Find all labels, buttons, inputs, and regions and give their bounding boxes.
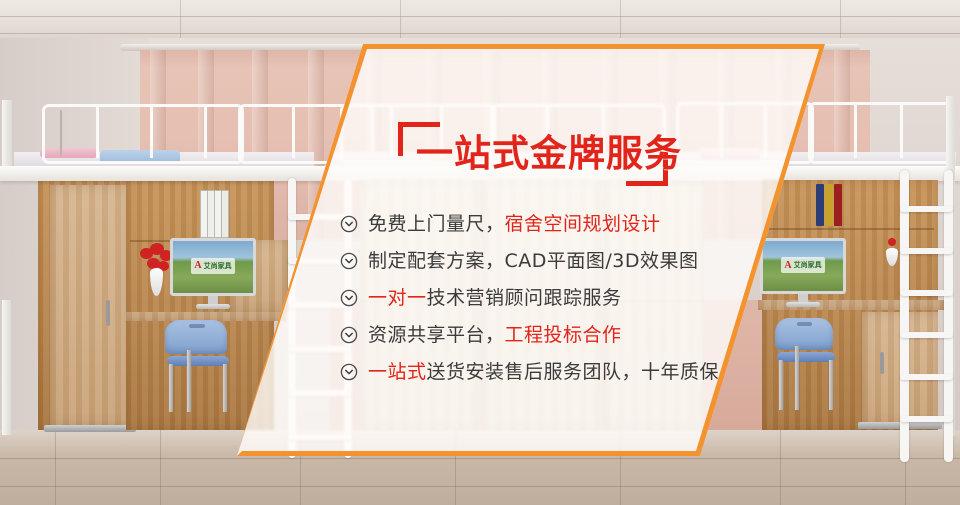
list-item-text: 资源共享平台，工程投标合作 [368, 324, 622, 346]
title-block: 一站式金牌服务 [398, 122, 668, 186]
service-list: 免费上门量尺，宿舍空间规划设计 制定配套方案，CAD平面图/3D效果图 [340, 205, 760, 390]
chevron-down-circle-icon [340, 363, 358, 381]
list-item: 资源共享平台，工程投标合作 [340, 316, 760, 353]
list-item-text: 免费上门量尺，宿舍空间规划设计 [368, 213, 661, 235]
chevron-down-circle-icon [340, 326, 358, 344]
chevron-down-circle-icon [340, 252, 358, 270]
chevron-down-circle-icon [340, 289, 358, 307]
list-item: 一站式送货安装售后服务团队，十年质保 [340, 353, 760, 390]
list-item: 一对一技术营销顾问跟踪服务 [340, 279, 760, 316]
list-item: 制定配套方案，CAD平面图/3D效果图 [340, 242, 760, 279]
page-title: 一站式金牌服务 [416, 132, 682, 176]
list-item-text: 一站式送货安装售后服务团队，十年质保 [368, 361, 719, 383]
list-item-text: 一对一技术营销顾问跟踪服务 [368, 287, 622, 309]
list-item: 免费上门量尺，宿舍空间规划设计 [340, 205, 760, 242]
list-item-text: 制定配套方案，CAD平面图/3D效果图 [368, 250, 699, 272]
chevron-down-circle-icon [340, 215, 358, 233]
banner-content: 一站式金牌服务 免费上门量尺，宿舍空间规划设计 [0, 0, 960, 505]
marketing-banner: A 艾尚家具 [0, 0, 960, 505]
